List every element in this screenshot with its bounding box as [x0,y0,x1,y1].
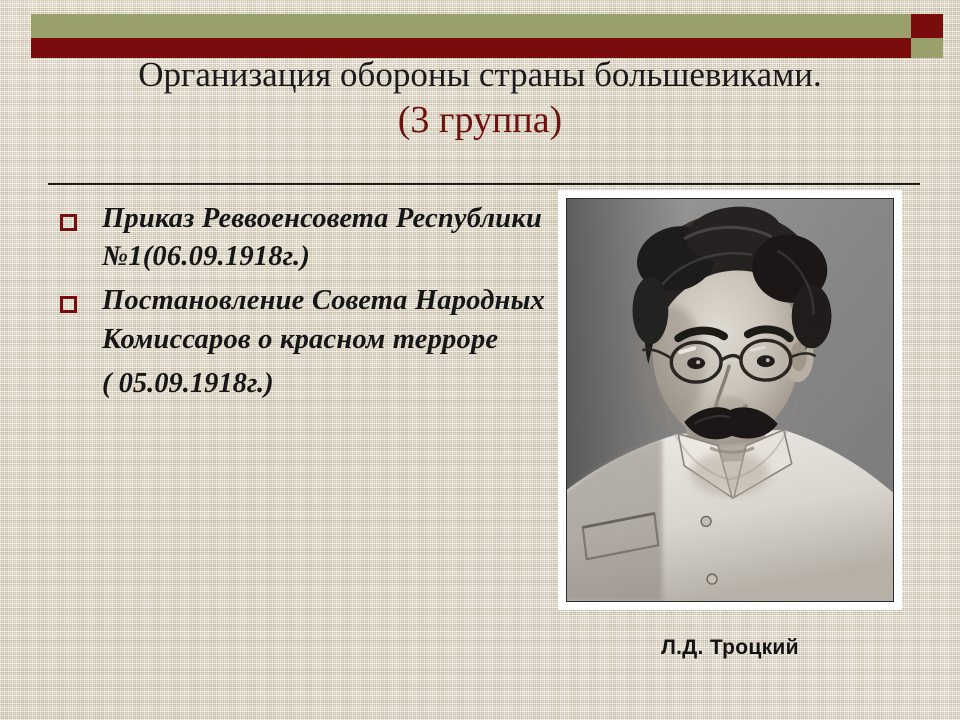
portrait-photo [566,198,894,602]
list-item-label: Приказ Реввоенсовета Республики №1(06.09… [102,203,542,272]
header-checker-top-right [911,14,943,38]
square-outline-bullet-icon [60,214,77,231]
portrait-photo-image [567,199,893,601]
list-item-label: Постановление Совета Народных Комиссаров… [102,285,545,354]
content-bullet-list: Приказ Реввоенсовета Республики №1(06.09… [46,200,546,403]
portrait-photo-frame [558,190,902,610]
square-outline-bullet-icon [60,296,77,313]
page-title: Организация обороны страны большевиками.… [0,57,960,139]
list-item: Постановление Совета Народных Комиссаров… [46,282,546,358]
slide-canvas: Организация обороны страны большевиками.… [0,0,960,720]
header-green-bar [31,14,911,38]
portrait-caption: Л.Д. Троцкий [558,636,902,660]
header-checker-bottom-right [911,38,943,58]
title-divider [48,183,920,185]
title-line-primary: Организация обороны страны большевиками. [0,57,960,92]
list-item-continuation: ( 05.09.1918г.) [46,365,546,403]
list-item: Приказ Реввоенсовета Республики №1(06.09… [46,200,546,276]
title-line-subtitle: (3 группа) [0,101,960,139]
